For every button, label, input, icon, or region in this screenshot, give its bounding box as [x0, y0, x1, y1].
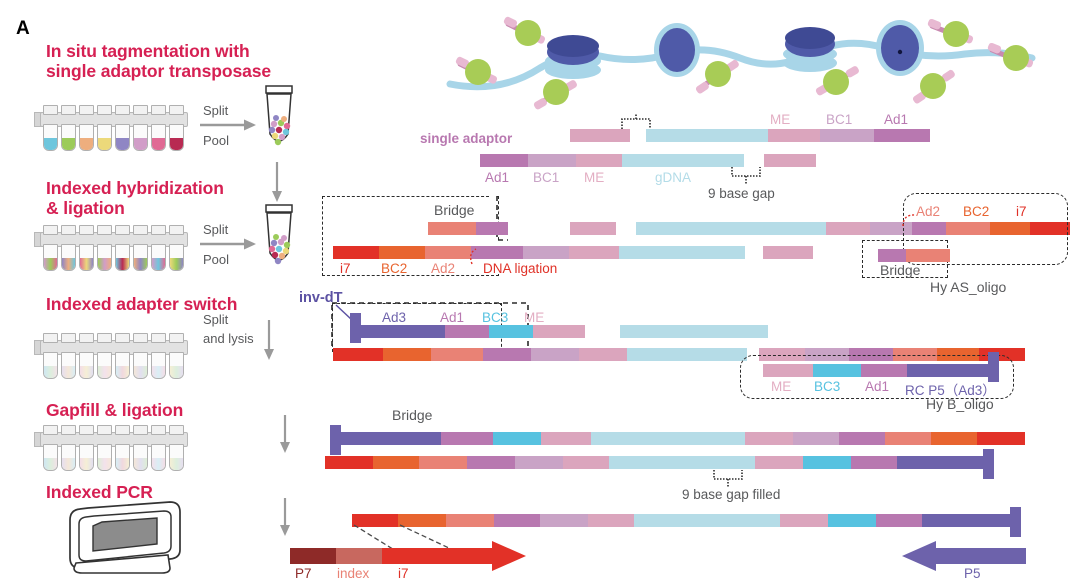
primer-segment-i7 — [382, 548, 434, 564]
step-title-tagmentation: In situ tagmentation with single adaptor… — [46, 41, 346, 81]
transition-label-split-3: Split — [203, 312, 228, 327]
gapfill-segment-ad2 — [419, 456, 467, 469]
dna-segment-bc1 — [528, 154, 576, 167]
chromatin-fiber-diagram — [420, 6, 1060, 102]
dna-segment-gdna — [622, 154, 744, 167]
dna-segment-bc1 — [820, 129, 874, 142]
dna-segment-me — [569, 246, 619, 259]
label-inv-dt: inv-dT — [299, 290, 343, 306]
transposase-complex — [503, 16, 546, 46]
dna-segment-bc1 — [523, 246, 569, 259]
dna-segment-me — [826, 222, 870, 235]
label-index: index — [337, 566, 369, 581]
label-ad1-hyb: Ad1 — [865, 379, 889, 394]
gapfill-segment-ad2 — [885, 432, 931, 445]
label-9-base-gap: 9 base gap — [708, 186, 775, 201]
thermocycler-icon — [58, 500, 188, 578]
gapfill-segment-bc2 — [373, 456, 419, 469]
inv-dt-endcap — [350, 313, 361, 343]
transposase-complex — [695, 59, 740, 95]
dna-segment-me — [764, 154, 816, 167]
label-p7: P7 — [295, 566, 312, 581]
gapfill-segment-ad1 — [441, 432, 493, 445]
bridge-segment-ad2 — [428, 222, 476, 235]
label-bc1-bottom: BC1 — [533, 170, 559, 185]
nucleosome — [876, 20, 924, 76]
dna-segment-i7 — [333, 246, 379, 259]
flow-arrow-pcr-icon — [278, 498, 292, 538]
dna-segment-me — [570, 222, 616, 235]
flow-arrow-1-icon — [270, 162, 284, 204]
label-bridge-right: Bridge — [880, 262, 920, 278]
flow-arrow-gapfill-icon — [278, 415, 292, 455]
label-bridge-gapfill: Bridge — [392, 407, 432, 423]
transition-label-pool-2: Pool — [203, 252, 229, 267]
p5-primer-arrow-icon — [818, 541, 1030, 571]
label-9-base-gap-filled: 9 base gap filled — [682, 487, 780, 502]
label-single-adaptor: single adaptor — [420, 131, 512, 146]
step-title-gapfill: Gapfill & ligation — [46, 400, 366, 420]
bridge-segment-ad1 — [476, 222, 508, 235]
pcr-segment-bc1 — [540, 514, 588, 527]
gapfill-endcap-right — [983, 449, 994, 479]
nucleosome — [783, 27, 837, 72]
gapfill-segment-me — [563, 456, 609, 469]
hyb-segment-ad3 — [907, 364, 991, 377]
label-dna-ligation: DNA ligation — [483, 261, 557, 276]
dna-segment-bc2 — [383, 348, 431, 361]
gapfill-segment-i7 — [325, 456, 373, 469]
gap-bracket-bottom-icon — [730, 167, 766, 187]
transition-label-split-1: Split — [203, 103, 228, 118]
hyb-segment-bc3 — [813, 364, 861, 377]
gapfill-segment-ad1 — [839, 432, 885, 445]
dna-segment-bc2 — [379, 246, 425, 259]
dna-segment-gdna — [619, 246, 745, 259]
gapfill-segment-ad1 — [467, 456, 515, 469]
label-me-hyb: ME — [771, 379, 791, 394]
pooled-tube-2 — [258, 205, 302, 279]
gapfill-endcap-left — [330, 425, 341, 455]
switch-segment-bc3 — [489, 325, 533, 338]
hyb-segment-me — [763, 364, 813, 377]
gapfill-segment-me — [541, 432, 591, 445]
gapfill-segment-ad3 — [897, 456, 983, 469]
label-ad1-switch: Ad1 — [440, 310, 464, 325]
gapfill-segment-bc3 — [803, 456, 851, 469]
dna-segment-me — [768, 129, 820, 142]
dna-segment-ad2 — [431, 348, 483, 361]
gapfill-segment-bc1 — [793, 432, 839, 445]
nucleosome — [545, 35, 601, 79]
transition-label-and-lysis: and lysis — [203, 331, 254, 346]
gapfill-segment-bc3 — [493, 432, 541, 445]
gapfill-segment-gdna — [609, 456, 755, 469]
hyb-inv-dt-endcap — [988, 352, 999, 382]
dna-segment-ad1 — [483, 348, 531, 361]
label-i7-primer: i7 — [398, 566, 409, 581]
primer-segment-index — [336, 548, 382, 564]
gapfill-segment-bc1 — [515, 456, 563, 469]
gapfill-segment-gdna — [591, 432, 745, 445]
label-bc3: BC3 — [482, 310, 508, 325]
dna-segment-ad1 — [480, 154, 528, 167]
dna-segment-me — [763, 246, 813, 259]
gap-bracket-top-icon — [620, 113, 656, 131]
hyb-segment-ad1 — [861, 364, 907, 377]
figure-panel: A In situ tagmentation with single adapt… — [0, 0, 1080, 587]
transposase-complex — [987, 42, 1034, 71]
bridge-segment-ad2 — [906, 249, 950, 262]
dna-segment-i7 — [333, 348, 383, 361]
label-hy-b-oligo: Hy B_oligo — [926, 396, 994, 412]
label-ad2-left: Ad2 — [431, 261, 455, 276]
panel-letter: A — [16, 18, 30, 40]
split-pool-arrow-2-icon — [200, 237, 260, 251]
dna-segment-gdna — [636, 222, 826, 235]
label-ad1-bottom: Ad1 — [485, 170, 509, 185]
pcr-segment-ad1 — [876, 514, 922, 527]
label-me-top: ME — [770, 112, 790, 127]
label-bridge-left: Bridge — [434, 202, 474, 218]
transposase-complex — [533, 79, 578, 110]
label-i7-right: i7 — [1016, 204, 1027, 219]
pooled-tube-1 — [258, 86, 302, 160]
ligation-nick-right-icon — [900, 210, 922, 228]
label-p5: P5 — [964, 566, 981, 581]
transposase-complex — [912, 69, 956, 105]
label-gdna: gDNA — [655, 170, 691, 185]
split-lysis-arrow-icon — [262, 320, 276, 362]
label-bc2-right: BC2 — [963, 204, 989, 219]
label-i7-left: i7 — [340, 261, 351, 276]
nucleosome — [654, 23, 700, 77]
pcr-segment-me — [588, 514, 634, 527]
transition-label-split-2: Split — [203, 222, 228, 237]
dna-segment-ad2 — [425, 246, 471, 259]
ligation-nick-icon — [466, 240, 488, 266]
label-bc3-hyb: BC3 — [814, 379, 840, 394]
transposase-complex — [927, 18, 974, 47]
dna-segment-ad1 — [874, 129, 930, 142]
transposase-complex — [455, 56, 498, 85]
pcr-segment-bc3 — [828, 514, 876, 527]
label-bc1-top: BC1 — [826, 112, 852, 127]
switch-segment-ad3 — [361, 325, 445, 338]
label-bc2-left: BC2 — [381, 261, 407, 276]
split-pool-arrow-1-icon — [200, 118, 260, 132]
label-hy-as-oligo: Hy AS_oligo — [930, 279, 1006, 295]
switch-segment-me — [533, 325, 585, 338]
label-ad3: Ad3 — [382, 310, 406, 325]
label-me-switch: ME — [524, 310, 544, 325]
dna-segment-gdna — [646, 129, 768, 142]
gapfill-segment-me — [755, 456, 803, 469]
gapfill-segment-bc2 — [931, 432, 977, 445]
transition-label-pool-1: Pool — [203, 133, 229, 148]
pcr-segment-gdna — [634, 514, 780, 527]
dna-segment-bc1 — [531, 348, 579, 361]
gapfill-segment-ad1 — [851, 456, 897, 469]
pcr-endcap-right — [1010, 507, 1021, 537]
label-me-bottom: ME — [584, 170, 604, 185]
gapfill-segment-me — [745, 432, 793, 445]
p7-primer-arrow-icon — [430, 541, 542, 571]
step-title-indexed-pcr: Indexed PCR — [46, 482, 366, 502]
dna-segment-me — [576, 154, 622, 167]
dna-segment-gdna — [620, 325, 768, 338]
primer-segment-p7 — [290, 548, 336, 564]
switch-segment-ad1 — [445, 325, 489, 338]
gapfill-segment-ad3 — [341, 432, 441, 445]
pcr-segment-ad3 — [922, 514, 1010, 527]
dna-segment-me — [579, 348, 627, 361]
gapfill-segment-i7 — [977, 432, 1025, 445]
bridge-segment-ad1 — [878, 249, 906, 262]
dna-segment-gdna — [627, 348, 747, 361]
pcr-segment-me — [780, 514, 828, 527]
label-ad1-top: Ad1 — [884, 112, 908, 127]
